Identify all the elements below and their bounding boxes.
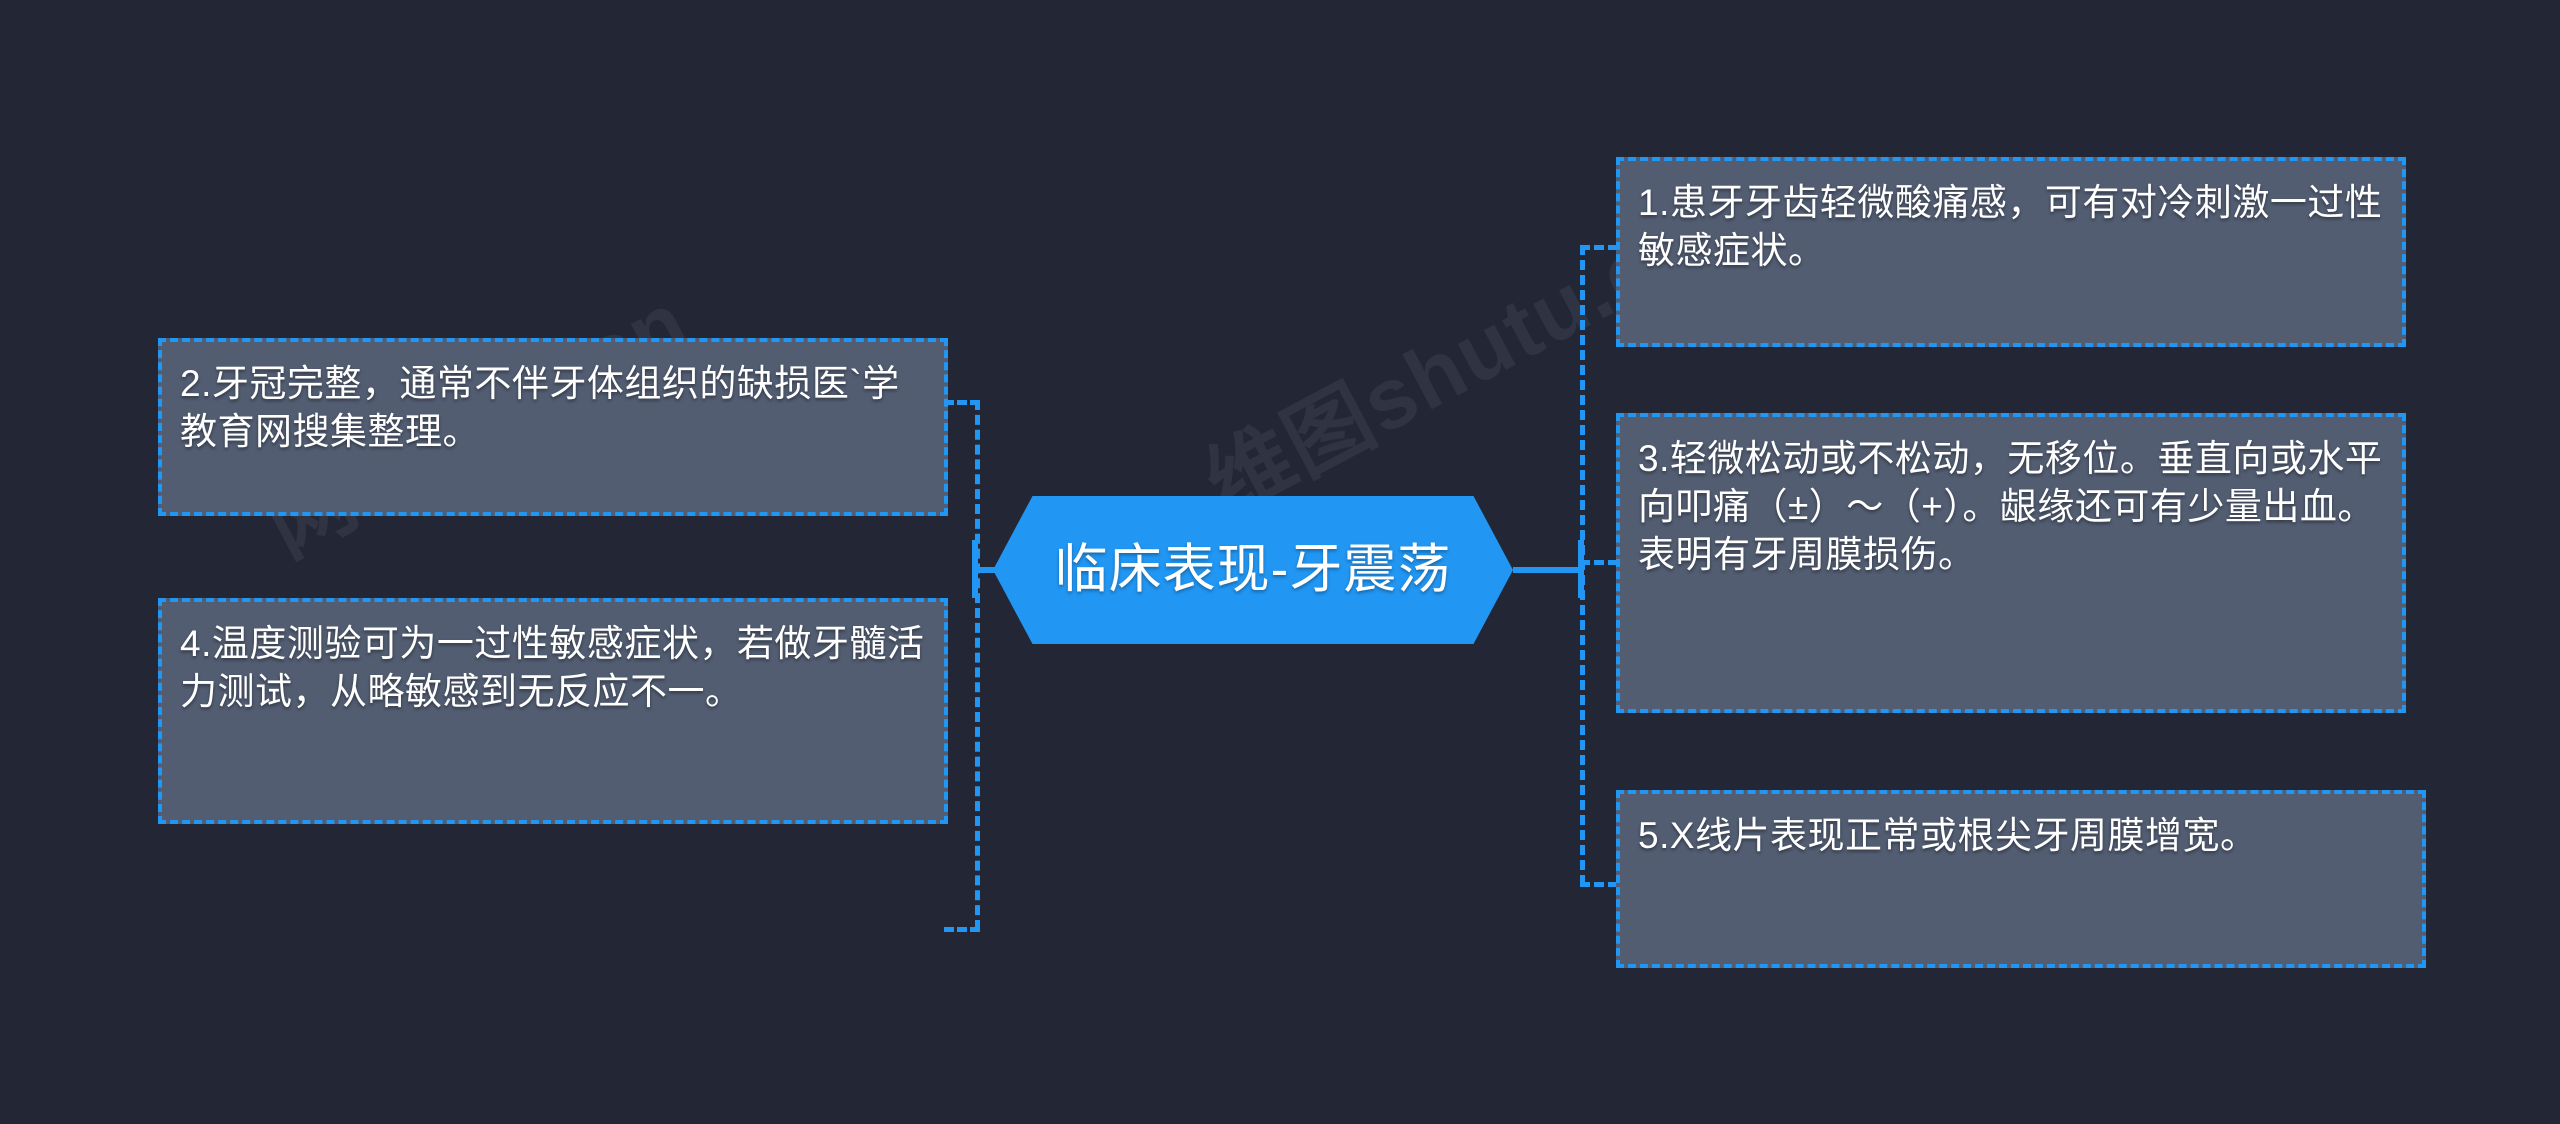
connector-stub-node-1 [1580, 245, 1618, 250]
node-3-text: 3.轻微松动或不松动，无移位。垂直向或水平向叩痛（±）～（+）。龈缘还可有少量出… [1620, 417, 2402, 579]
mindmap-canvas: 网shutu.cn 维图shutu.cn shutu.cn 临床表现-牙震荡 2… [0, 0, 2560, 1124]
node-4[interactable]: 4.温度测验可为一过性敏感症状，若做牙髓活力测试，从略敏感到无反应不一。 [158, 598, 948, 824]
node-2-text: 2.牙冠完整，通常不伴牙体组织的缺损医`学教育网搜集整理。 [162, 342, 944, 456]
connector-stub-node-2 [944, 400, 980, 405]
node-5-text: 5.X线片表现正常或根尖牙周膜增宽。 [1620, 794, 2274, 860]
node-5[interactable]: 5.X线片表现正常或根尖牙周膜增宽。 [1616, 790, 2426, 968]
connector-stub-node-4 [944, 927, 980, 932]
node-4-text: 4.温度测验可为一过性敏感症状，若做牙髓活力测试，从略敏感到无反应不一。 [162, 602, 944, 716]
node-2[interactable]: 2.牙冠完整，通常不伴牙体组织的缺损医`学教育网搜集整理。 [158, 338, 948, 516]
center-node[interactable]: 临床表现-牙震荡 [993, 496, 1513, 644]
node-3[interactable]: 3.轻微松动或不松动，无移位。垂直向或水平向叩痛（±）～（+）。龈缘还可有少量出… [1616, 413, 2406, 713]
connector-cap-right [1578, 540, 1584, 598]
connector-stub-node-3 [1580, 560, 1618, 565]
connector-trunk-left [975, 400, 980, 930]
connector-center-right [1513, 567, 1583, 573]
connector-stub-node-5 [1580, 882, 1618, 887]
node-1-text: 1.患牙牙齿轻微酸痛感，可有对冷刺激一过性敏感症状。 [1620, 161, 2402, 275]
center-node-label: 临床表现-牙震荡 [1055, 541, 1452, 599]
node-1[interactable]: 1.患牙牙齿轻微酸痛感，可有对冷刺激一过性敏感症状。 [1616, 157, 2406, 347]
connector-cap-left [972, 540, 978, 598]
